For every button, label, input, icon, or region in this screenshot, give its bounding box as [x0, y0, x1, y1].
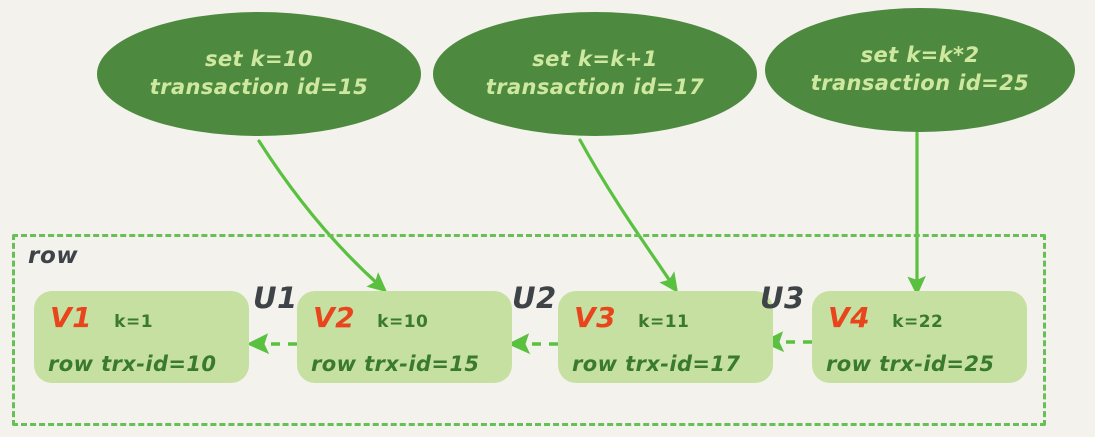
version-trx-id: row trx-id=15	[311, 352, 479, 376]
transaction-statement: set k=10	[205, 46, 313, 74]
version-name: V3	[574, 301, 616, 334]
diagram-canvas: set k=10 transaction id=15 set k=k+1 tra…	[0, 0, 1095, 437]
transaction-ellipse-1: set k=10 transaction id=15	[97, 12, 421, 136]
version-box-v3: V3 k=11 row trx-id=17	[558, 291, 773, 383]
version-value: k=22	[892, 312, 943, 332]
undo-log-label-u2: U2	[512, 281, 557, 315]
version-name: V1	[50, 301, 92, 334]
row-label: row	[28, 243, 78, 269]
version-trx-id: row trx-id=17	[572, 352, 740, 376]
transaction-id: transaction id=17	[486, 74, 704, 102]
undo-log-label-u3: U3	[760, 281, 805, 315]
transaction-statement: set k=k+1	[532, 46, 657, 74]
version-value: k=11	[638, 312, 689, 332]
version-box-v1: V1 k=1 row trx-id=10	[34, 291, 249, 383]
version-name: V2	[313, 301, 355, 334]
version-value: k=1	[114, 312, 153, 332]
version-header: V4 k=22	[812, 301, 1027, 334]
version-header: V2 k=10	[297, 301, 512, 334]
undo-log-label-u1: U1	[253, 281, 298, 315]
version-trx-id: row trx-id=10	[48, 352, 216, 376]
version-header: V1 k=1	[34, 301, 249, 334]
transaction-statement: set k=k*2	[861, 42, 980, 70]
version-box-v2: V2 k=10 row trx-id=15	[297, 291, 512, 383]
version-header: V3 k=11	[558, 301, 773, 334]
version-box-v4: V4 k=22 row trx-id=25	[812, 291, 1027, 383]
transaction-id: transaction id=15	[150, 74, 368, 102]
version-name: V4	[828, 301, 870, 334]
version-trx-id: row trx-id=25	[826, 352, 994, 376]
transaction-ellipse-2: set k=k+1 transaction id=17	[433, 12, 757, 136]
transaction-ellipse-3: set k=k*2 transaction id=25	[765, 8, 1075, 132]
version-value: k=10	[377, 312, 428, 332]
transaction-id: transaction id=25	[811, 70, 1029, 98]
